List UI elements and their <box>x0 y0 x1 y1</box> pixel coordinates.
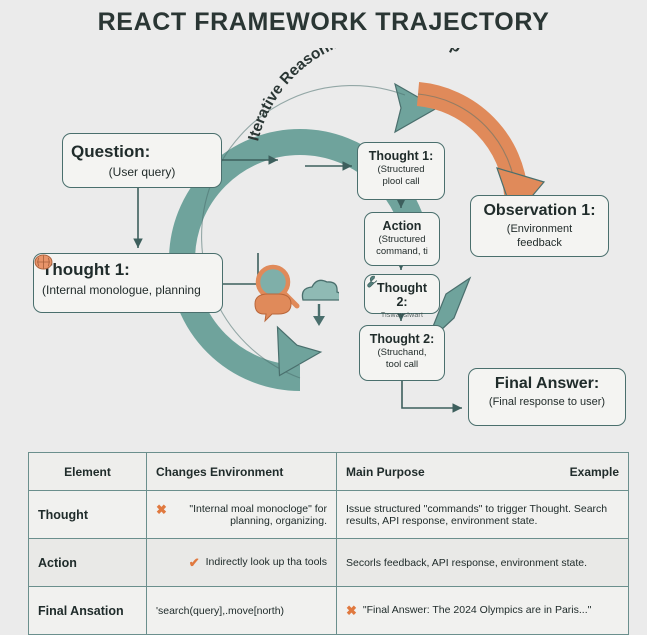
wrench-icon <box>365 275 378 288</box>
node-thought1[interactable]: Thought 1: (Structured plool call <box>357 142 445 200</box>
node-final-answer[interactable]: Final Answer: (Final response to user) <box>468 368 626 426</box>
table-head: Element Changes Environment Main Purpose… <box>29 453 629 491</box>
node-thought1-title: Thought 1: <box>366 149 436 163</box>
node-thought1-sub: (Structured plool call <box>366 164 436 187</box>
cell-changes-environment: 'search(query],.move[north) <box>147 587 337 635</box>
cell-main-purpose: ✖ "Final Answer: The 2024 Olympics are i… <box>337 587 629 635</box>
node-thought2-mid-title: Thought 2: <box>373 281 431 310</box>
cell-changes-environment: ✖ "Internal moal monocloge" for planning… <box>147 491 337 539</box>
cross-icon: ✖ <box>156 503 167 517</box>
node-observation-sub: (Environment feedback <box>479 223 600 251</box>
table-body: Thought ✖ "Internal moal monocloge" for … <box>29 491 629 635</box>
cell-changes-text: Indirectly look up tha tools <box>206 556 327 568</box>
cell-changes-environment: ✔ Indirectly look up tha tools <box>147 539 337 587</box>
cell-main-purpose: Secorls feedback, API response, environm… <box>337 539 629 587</box>
cross-icon: ✖ <box>346 604 357 618</box>
node-thought2-mid-sub: Tiswavslwart <box>381 312 423 319</box>
node-question-sub: (User query) <box>71 165 213 180</box>
node-action-title: Action <box>373 219 431 233</box>
node-action[interactable]: Action (Structured command, ti <box>364 212 440 266</box>
table-row[interactable]: Final Ansation 'search(query],.move[nort… <box>29 587 629 635</box>
cloud-download-icon <box>302 280 339 326</box>
node-thought2-mid[interactable]: Thought 2: Tiswavslwart <box>364 274 440 314</box>
node-thought2-low-sub: (Struchand, tool call <box>368 347 436 370</box>
node-thought-left[interactable]: Thought 1: (Internal monologue, planning <box>33 253 223 313</box>
col-header-main-purpose-example: Main Purpose Example <box>337 453 629 491</box>
summary-table: Element Changes Environment Main Purpose… <box>28 452 629 635</box>
cell-example-text: "Final Answer: The 2024 Olympics are in … <box>363 604 591 616</box>
node-final-answer-sub: (Final response to user) <box>477 396 617 410</box>
node-observation[interactable]: Observation 1: (Environment feedback <box>470 195 609 257</box>
node-action-sub: (Structured command, ti <box>373 234 431 257</box>
cell-element: Final Ansation <box>29 587 147 635</box>
cell-changes-text: "Internal moal monocloge" for planning, … <box>173 503 327 527</box>
table-row[interactable]: Thought ✖ "Internal moal monocloge" for … <box>29 491 629 539</box>
node-thought2-low[interactable]: Thought 2: (Struchand, tool call <box>359 325 445 381</box>
speech-bubble-icon <box>255 294 291 321</box>
node-final-answer-title: Final Answer: <box>477 375 617 393</box>
summary-table-wrap: Element Changes Environment Main Purpose… <box>28 452 628 635</box>
check-circle-icon: ✔ <box>189 556 200 570</box>
cell-main-purpose: Issue structured "commands" to trigger T… <box>337 491 629 539</box>
node-observation-title: Observation 1: <box>479 202 600 220</box>
connector-thought2-final <box>402 381 462 408</box>
brain-icon <box>34 254 53 270</box>
cell-element: Thought <box>29 491 147 539</box>
node-thought-left-sub: (Internal monologue, planning <box>42 283 214 298</box>
node-thought-left-title: Thought 1: <box>42 260 214 280</box>
table-header-row: Element Changes Environment Main Purpose… <box>29 453 629 491</box>
node-question-title: Question: <box>71 142 213 162</box>
node-thought2-low-title: Thought 2: <box>368 332 436 346</box>
icon-cluster <box>243 260 339 338</box>
node-question[interactable]: Question: (User query) <box>62 133 222 188</box>
cell-element: Action <box>29 539 147 587</box>
page-title: REACT FRAMEWORK TRAJECTORY <box>0 8 647 37</box>
col-header-element: Element <box>29 453 147 491</box>
col-header-changes-environment: Changes Environment <box>147 453 337 491</box>
col-header-example: Example <box>570 465 619 479</box>
table-row[interactable]: Action ✔ Indirectly look up tha tools Se… <box>29 539 629 587</box>
col-header-main-purpose: Main Purpose <box>346 465 425 479</box>
diagram-canvas: Iterative Reasoning & Acting Loop Questi… <box>0 48 647 448</box>
